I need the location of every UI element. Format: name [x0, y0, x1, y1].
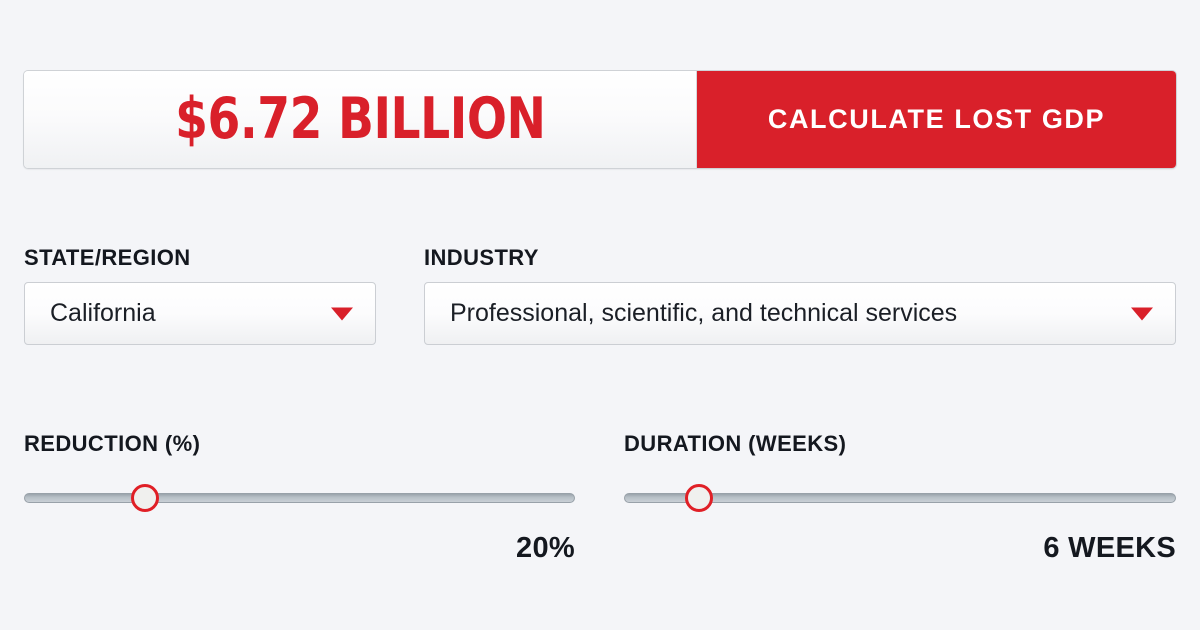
result-value: $6.72 BILLION [175, 91, 545, 148]
calculate-lost-gdp-button[interactable]: CALCULATE LOST GDP [697, 71, 1176, 168]
chevron-down-icon [331, 307, 353, 320]
lost-gdp-calculator: $6.72 BILLION CALCULATE LOST GDP STATE/R… [0, 0, 1200, 630]
reduction-readout: 20% [24, 534, 575, 563]
duration-slider[interactable] [624, 482, 1176, 514]
selects-row: STATE/REGION California INDUSTRY Profess… [0, 246, 1200, 366]
industry-select[interactable]: Professional, scientific, and technical … [424, 282, 1176, 345]
reduction-slider[interactable] [24, 482, 575, 514]
reduction-label: REDUCTION (%) [24, 432, 575, 456]
slider-group-reduction: REDUCTION (%) 20% [24, 432, 575, 563]
reduction-slider-thumb[interactable] [131, 484, 159, 512]
sliders-row: REDUCTION (%) 20% DURATION (WEEKS) 6 WEE… [0, 432, 1200, 572]
reduction-slider-track[interactable] [24, 493, 575, 503]
state-region-select[interactable]: California [24, 282, 376, 345]
duration-readout: 6 WEEKS [624, 534, 1176, 563]
field-state-region: STATE/REGION California [24, 246, 376, 345]
result-value-panel: $6.72 BILLION [24, 71, 697, 168]
state-region-selected-value: California [25, 299, 212, 328]
state-region-label: STATE/REGION [24, 246, 376, 270]
chevron-down-icon [1131, 307, 1153, 320]
industry-selected-value: Professional, scientific, and technical … [425, 299, 1013, 328]
industry-label: INDUSTRY [424, 246, 1176, 270]
result-bar: $6.72 BILLION CALCULATE LOST GDP [23, 70, 1177, 169]
duration-label: DURATION (WEEKS) [624, 432, 1176, 456]
slider-group-duration: DURATION (WEEKS) 6 WEEKS [624, 432, 1176, 563]
duration-slider-thumb[interactable] [685, 484, 713, 512]
calculate-lost-gdp-button-label: CALCULATE LOST GDP [768, 104, 1105, 135]
field-industry: INDUSTRY Professional, scientific, and t… [424, 246, 1176, 345]
